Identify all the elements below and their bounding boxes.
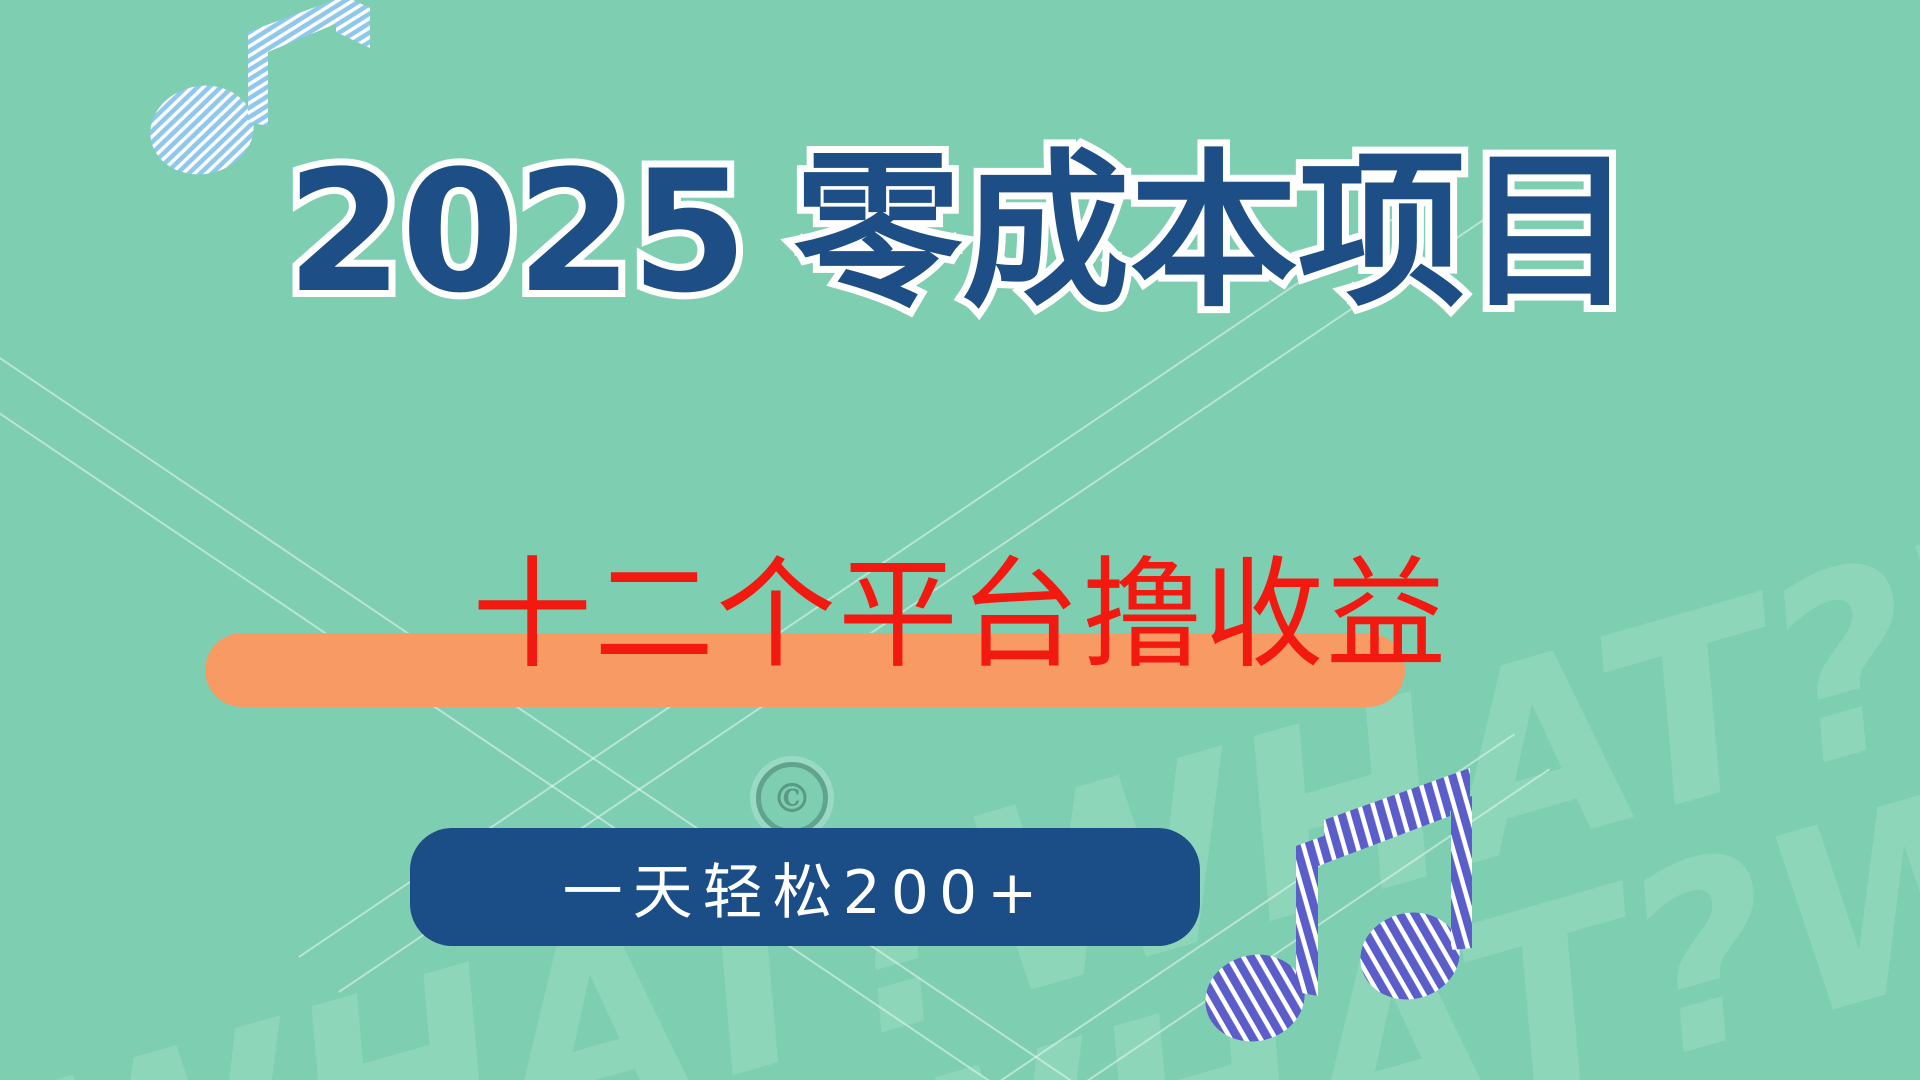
diagonal-line [0, 372, 1184, 1080]
copyright-watermark: © [756, 762, 828, 834]
music-note-icon [1200, 760, 1490, 1060]
subtitle: 十二个平台撸收益 [0, 556, 1920, 676]
page-title: 2025零成本项目 [0, 148, 1920, 316]
badge-label: 一天轻松200+ [563, 844, 1048, 931]
headline-year: 2025 [286, 134, 746, 330]
status-badge: 一天轻松200+ [410, 828, 1200, 946]
headline-main: 零成本项目 [794, 134, 1634, 330]
poster-canvas: WHAT?WHAT?WHAT?WHAT?WHAT?WHAT?WHAT?WHAT?… [0, 0, 1920, 1080]
